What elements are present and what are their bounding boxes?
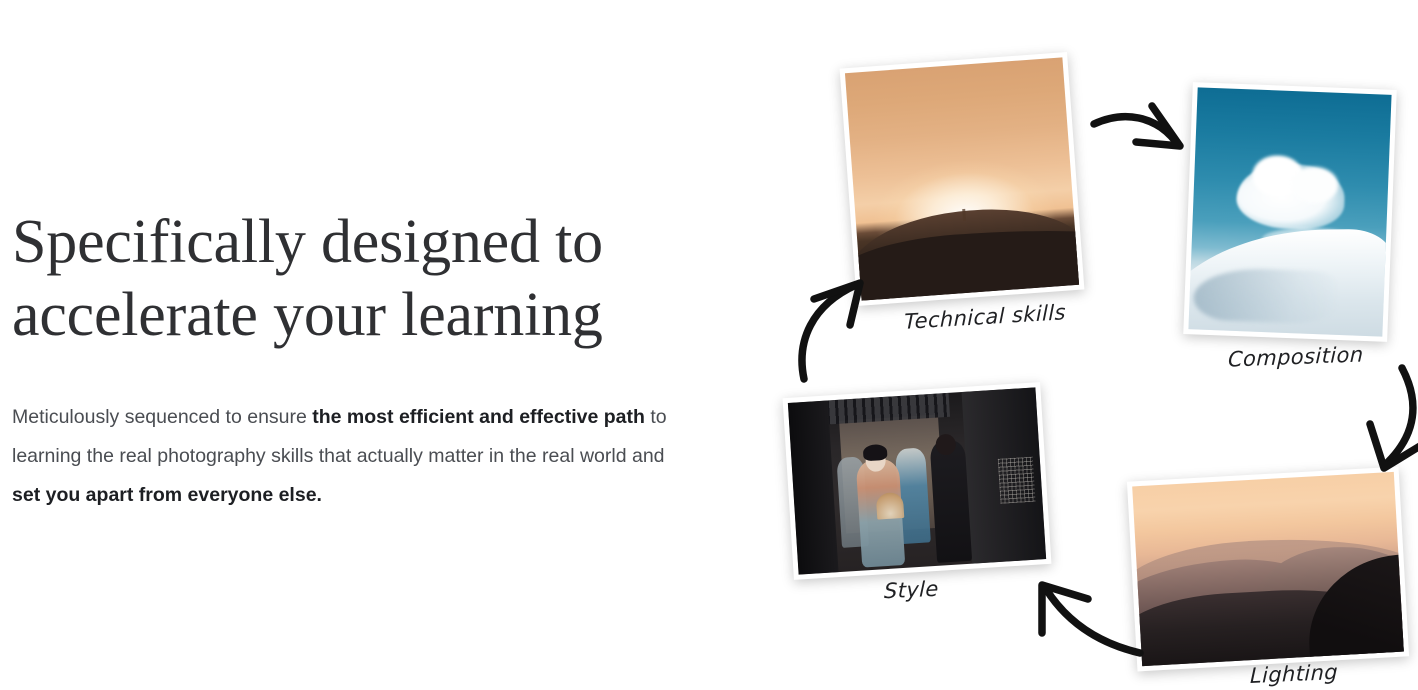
street-window-lattice [998, 457, 1035, 504]
page-title-line-1: Specifically designed to [12, 208, 603, 276]
photo-sunset-icon [845, 57, 1079, 300]
photo-card-technical-skills[interactable] [840, 52, 1085, 306]
landing-section: Specifically designed to accelerate your… [0, 0, 1418, 690]
street-figure-fan [876, 492, 905, 519]
paragraph-bold-1: the most efficient and effective path [312, 406, 645, 428]
arrow-curve-up-right-icon [788, 275, 873, 385]
photo-cloud-icon [1188, 87, 1391, 336]
photo-card-composition[interactable] [1183, 82, 1397, 342]
photo-card-style[interactable] [783, 382, 1052, 580]
snow-shadow [1193, 266, 1338, 325]
arrow-curve-up-left-icon [1032, 575, 1147, 660]
arrow-curve-down-icon [1358, 362, 1418, 482]
caption-technical-skills: Technical skills [904, 300, 1066, 334]
intro-paragraph: Meticulously sequenced to ensure the mos… [12, 398, 677, 515]
caption-composition: Composition [1228, 342, 1364, 371]
page-title: Specifically designed to accelerate your… [12, 206, 652, 352]
photo-mountains-icon [1132, 472, 1404, 666]
text-column: Specifically designed to accelerate your… [12, 206, 702, 515]
paragraph-bold-2: set you apart from everyone else. [12, 484, 322, 506]
paragraph-text-1: Meticulously sequenced to ensure [12, 406, 312, 428]
page-title-line-2: accelerate your learning [12, 281, 603, 349]
photo-card-lighting[interactable] [1127, 467, 1409, 672]
street-figure-hair [863, 444, 888, 461]
photo-collage: Technical skills Composition [760, 0, 1418, 690]
caption-style: Style [884, 577, 939, 604]
photo-street-icon [788, 387, 1046, 574]
caption-lighting: Lighting [1250, 660, 1339, 688]
street-wall-left [788, 400, 838, 574]
arrow-curve-right-icon [1090, 90, 1200, 170]
